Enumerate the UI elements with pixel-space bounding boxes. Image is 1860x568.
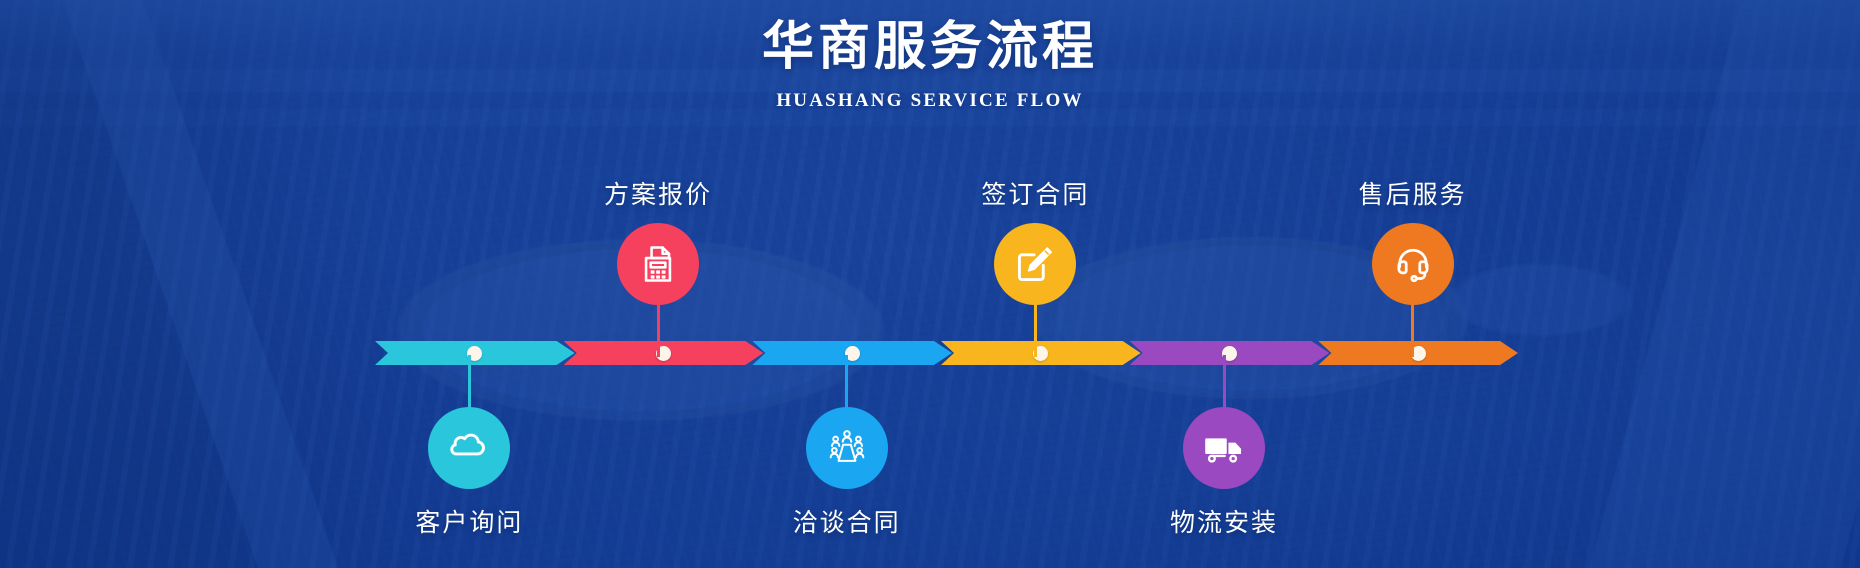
flow-step-icon-bubble[interactable]: [617, 223, 699, 305]
flow-step-icon-bubble[interactable]: [428, 407, 510, 489]
flow-step-6[interactable]: 售后服务: [1313, 175, 1513, 305]
flow-step-icon-bubble[interactable]: [994, 223, 1076, 305]
flow-step-label: 物流安装: [1124, 503, 1324, 539]
flow-step-connector: [657, 303, 660, 357]
flow-ribbon: [375, 341, 1507, 365]
flow-step-label: 方案报价: [558, 175, 758, 211]
flow-step-1[interactable]: 客户询问: [369, 407, 569, 539]
page-subtitle: HUASHANG SERVICE FLOW: [0, 90, 1860, 112]
flow-step-2[interactable]: 方案报价: [558, 175, 758, 305]
flow-step-connector: [845, 355, 848, 409]
flow-step-icon-bubble[interactable]: [806, 407, 888, 489]
flow-step-connector: [1411, 303, 1414, 357]
flow-step-label: 签订合同: [935, 175, 1135, 211]
flow-step-4[interactable]: 签订合同: [935, 175, 1135, 305]
flow-step-5[interactable]: 物流安装: [1124, 407, 1324, 539]
meeting-table-icon: [825, 426, 869, 470]
flow-step-label: 洽谈合同: [747, 503, 947, 539]
calculator-quote-icon: [636, 242, 680, 286]
flow-step-3[interactable]: 洽谈合同: [747, 407, 947, 539]
chat-cloud-icon: [447, 426, 491, 470]
flow-step-icon-bubble[interactable]: [1183, 407, 1265, 489]
flow-step-label: 售后服务: [1313, 175, 1513, 211]
flow-step-connector: [468, 355, 471, 409]
page-title: 华商服务流程: [0, 18, 1860, 78]
sign-pen-icon: [1013, 242, 1057, 286]
flow-segment-6[interactable]: [1318, 341, 1518, 365]
flow-segment-1[interactable]: [375, 341, 575, 365]
flow-segment-3[interactable]: [752, 341, 952, 365]
flow-segment-2[interactable]: [564, 341, 764, 365]
flow-segment-4[interactable]: [941, 341, 1141, 365]
flow-step-connector: [1034, 303, 1037, 357]
delivery-truck-icon: [1202, 426, 1246, 470]
flow-step-label: 客户询问: [369, 503, 569, 539]
service-flow-banner: 华商服务流程 HUASHANG SERVICE FLOW 客户询问方案报价洽谈合…: [0, 0, 1860, 568]
flow-segment-5[interactable]: [1130, 341, 1330, 365]
headset-support-icon: [1391, 242, 1435, 286]
flow-step-icon-bubble[interactable]: [1372, 223, 1454, 305]
banner-heading: 华商服务流程 HUASHANG SERVICE FLOW: [0, 18, 1860, 112]
flow-step-connector: [1223, 355, 1226, 409]
